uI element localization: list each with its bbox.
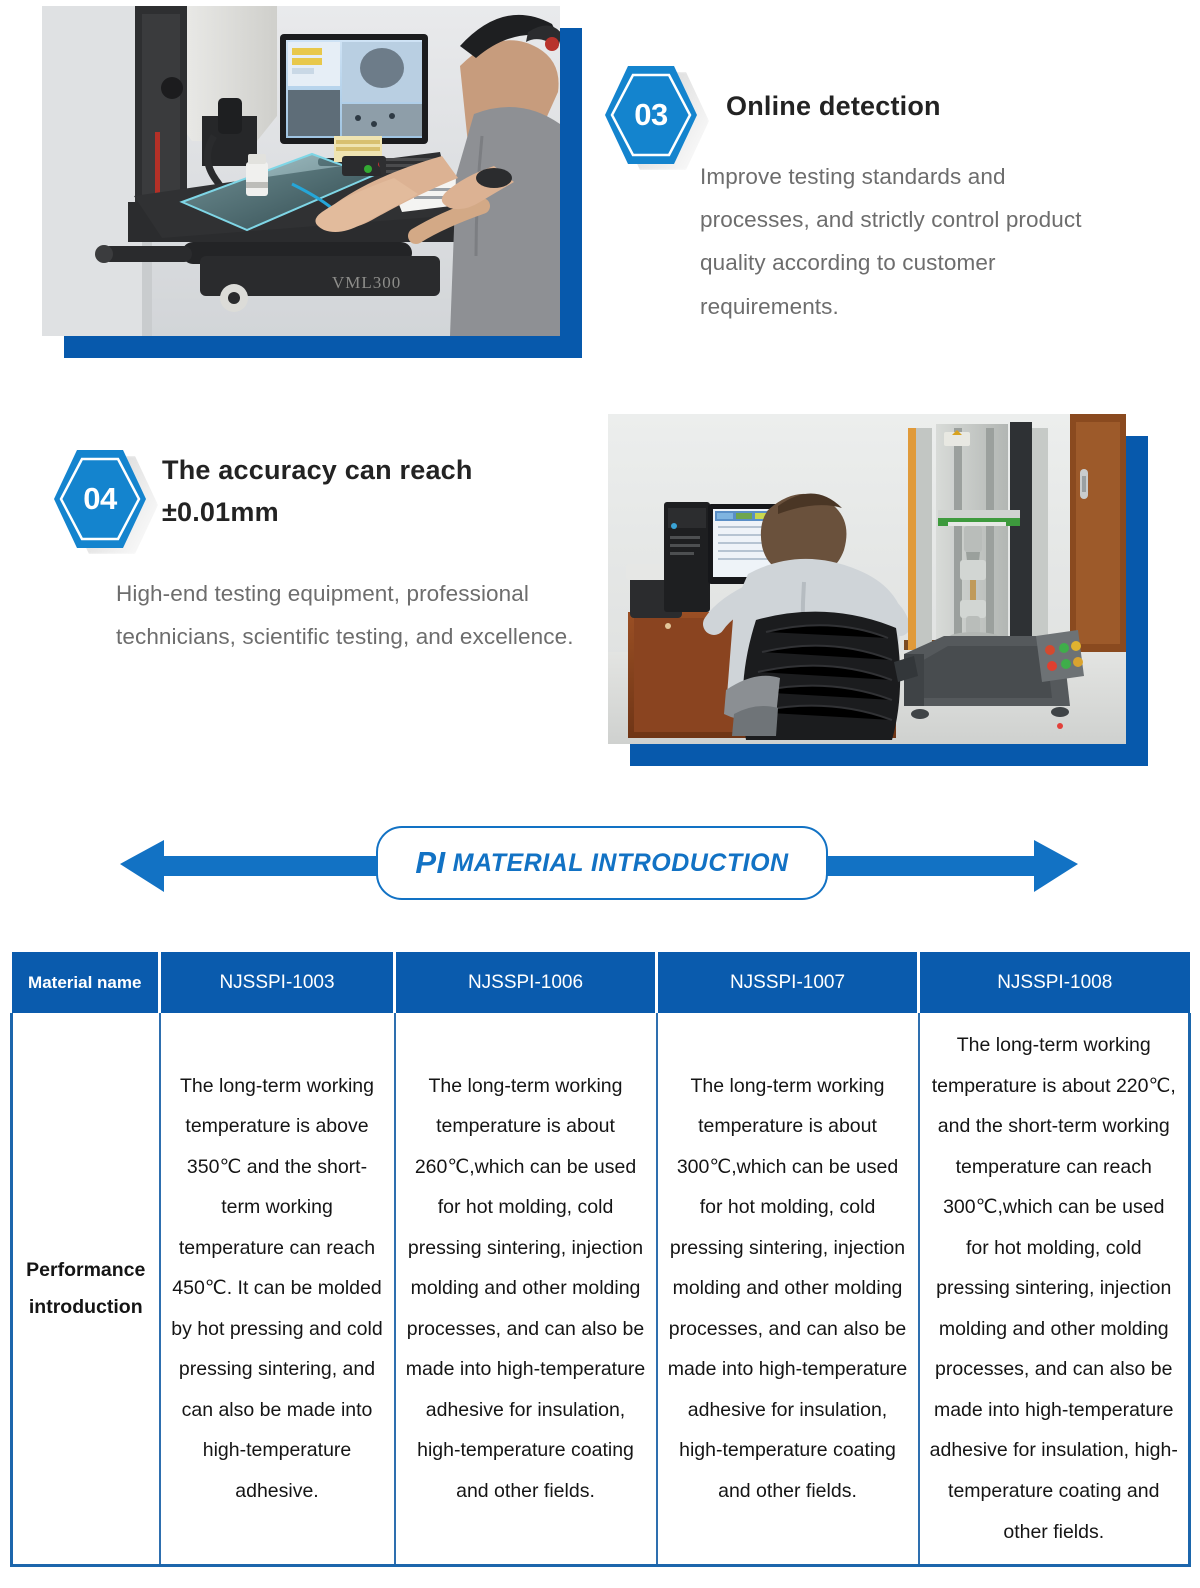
table-header-row: Material name NJSSPI-1003 NJSSPI-1006 NJ… (12, 952, 1190, 1013)
table-row: Performance introduction The long-term w… (12, 1013, 1190, 1566)
section-title-rest: MATERIAL INTRODUCTION (453, 849, 789, 878)
page-root: VML300 03 Online detection Improve (0, 0, 1200, 1588)
table-header-njsspi-1008: NJSSPI-1008 (919, 952, 1190, 1013)
table-header-njsspi-1006: NJSSPI-1006 (395, 952, 657, 1013)
table-header-njsspi-1003: NJSSPI-1003 (160, 952, 395, 1013)
section-title-pill: PI MATERIAL INTRODUCTION (376, 826, 828, 900)
feature-body-04: High-end testing equipment, professional… (116, 572, 586, 658)
photo-online-detection: VML300 (42, 6, 560, 336)
photo-tensile-testing-lab (608, 414, 1126, 744)
feature-badge-03: 03 (605, 66, 697, 164)
table-header-njsspi-1007: NJSSPI-1007 (657, 952, 919, 1013)
feature-body-03: Improve testing standards and processes,… (700, 155, 1120, 328)
feature-badge-number-04: 04 (54, 450, 146, 548)
table-cell-njsspi-1006: The long-term working temperature is abo… (395, 1013, 657, 1566)
feature-badge-number-03: 03 (605, 66, 697, 164)
feature-badge-04: 04 (54, 450, 146, 548)
table-cell-njsspi-1003: The long-term working temperature is abo… (160, 1013, 395, 1566)
photo-block-online-detection: VML300 (42, 6, 582, 358)
photo-block-accuracy (608, 414, 1148, 766)
pi-material-table: Material name NJSSPI-1003 NJSSPI-1006 NJ… (10, 952, 1191, 1567)
feature-title-03: Online detection (726, 86, 1166, 128)
table-cell-njsspi-1008: The long-term working temperature is abo… (919, 1013, 1190, 1566)
feature-title-04: The accuracy can reach ±0.01mm (162, 450, 562, 534)
section-title-lead: PI (415, 845, 445, 881)
table-cell-njsspi-1007: The long-term working temperature is abo… (657, 1013, 919, 1566)
table-row-label-performance-introduction: Performance introduction (12, 1013, 160, 1566)
table-header-material-name: Material name (12, 952, 160, 1013)
svg-text:VML300: VML300 (332, 273, 401, 292)
